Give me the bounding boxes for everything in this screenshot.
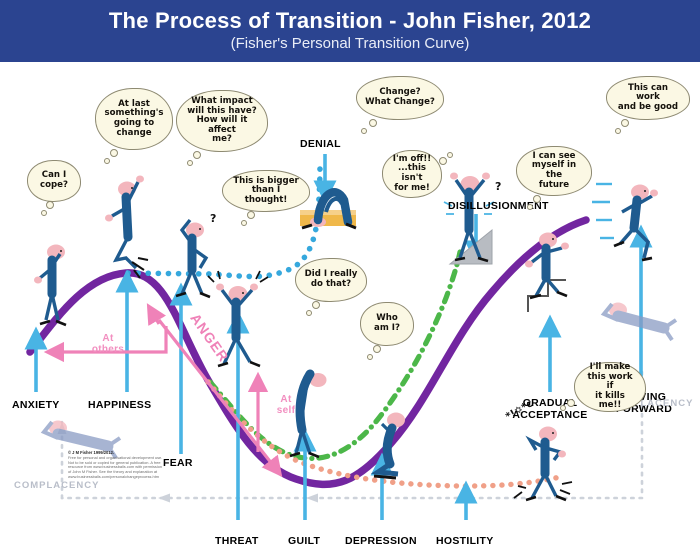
bubble-dot xyxy=(369,119,377,127)
transition-curve-diagram: The Process of Transition - John Fisher,… xyxy=(0,0,700,520)
bubble-dot xyxy=(439,157,447,165)
bubble-text: Who am I? xyxy=(374,314,400,333)
bubble-did-i-really-do-that: Did I really do that? xyxy=(295,258,367,302)
bubble-dot xyxy=(373,345,381,353)
bubble-text: I'll make this work if it kills me!! xyxy=(583,363,637,411)
question-mark-disillusionment: ? xyxy=(495,180,501,193)
anger-up-arrow xyxy=(152,312,159,324)
figure-moving-forward xyxy=(592,184,658,260)
bubble-dot xyxy=(306,310,312,316)
bubble-i-can-see-myself: I can see myself in the future xyxy=(516,146,592,196)
stage-label-depression: DEPRESSION xyxy=(345,536,417,548)
bubble-this-is-bigger: This is bigger than I thought! xyxy=(222,170,310,212)
bubble-dot xyxy=(247,211,255,219)
bubble-dot xyxy=(41,210,47,216)
bubble-im-off: I'm off!! ...this isn't for me! xyxy=(382,150,442,198)
stage-label-disillusionment: DISILLUSIONMENT xyxy=(448,201,549,213)
bubble-dot xyxy=(241,220,247,226)
question-mark-what-impact: ? xyxy=(210,212,216,225)
bubble-text: This is bigger than I thought! xyxy=(231,177,301,206)
bubble-dot xyxy=(533,195,541,203)
bubble-text: I'm off!! ...this isn't for me! xyxy=(391,155,433,193)
bubble-dot xyxy=(527,204,533,210)
bubble-text: At last something's going to change xyxy=(105,100,164,138)
bubble-dot xyxy=(361,128,367,134)
stage-label-denial: DENIAL xyxy=(300,139,341,151)
stage-label-guilt: GUILT xyxy=(288,536,320,548)
bubble-dot xyxy=(367,354,373,360)
figure-what-impact xyxy=(176,220,210,297)
stage-label-threat: THREAT xyxy=(215,536,259,548)
figure-happiness xyxy=(105,176,148,279)
stage-label-anxiety: ANXIETY xyxy=(12,400,60,412)
bubble-dot xyxy=(312,301,320,309)
bubble-dot xyxy=(560,405,566,411)
bubble-dot xyxy=(187,160,193,166)
bubble-can-i-cope: Can I cope? xyxy=(27,160,81,202)
page-subtitle: (Fisher's Personal Transition Curve) xyxy=(231,34,470,54)
stage-label-hostility: HOSTILITY xyxy=(436,536,494,548)
bubble-dot xyxy=(104,158,110,164)
copyright-line-6: www.businessballs.com/personalchangeproc… xyxy=(68,475,208,480)
page-title: The Process of Transition - John Fisher,… xyxy=(109,9,591,33)
bubble-text: This can work and be good xyxy=(615,84,681,113)
copyright-block: © J M Fisher 1999/2012. Free for persona… xyxy=(68,451,208,480)
bubble-ill-make-this-work: I'll make this work if it kills me!! xyxy=(574,362,646,412)
bubble-text: Change? What Change? xyxy=(365,88,435,107)
bubble-this-can-work: This can work and be good xyxy=(606,76,690,120)
title-banner: The Process of Transition - John Fisher,… xyxy=(0,0,700,62)
bubble-what-impact: What impact will this have? How will it … xyxy=(176,90,268,152)
bubble-dot xyxy=(615,128,621,134)
bubble-text: What impact will this have? How will it … xyxy=(185,97,259,145)
figure-hostility xyxy=(514,427,572,501)
bubble-dot xyxy=(567,399,575,407)
bubble-dot xyxy=(193,151,201,159)
bubble-text: I can see myself in the future xyxy=(525,152,583,190)
stage-label-happiness: HAPPINESS xyxy=(88,400,151,412)
bubble-dot xyxy=(46,201,54,209)
bubble-text: Did I really do that? xyxy=(305,270,358,289)
complacency-label-left: COMPLACENCY xyxy=(14,480,99,492)
figure-disillusionment xyxy=(444,173,494,265)
anger-at-self-label: At self xyxy=(268,394,304,416)
bubble-change-what-change: Change? What Change? xyxy=(356,76,444,120)
bubble-dot xyxy=(621,119,629,127)
bubble-dot xyxy=(447,152,453,158)
figure-gradual-acceptance xyxy=(525,233,569,313)
anger-at-others-label: At others xyxy=(90,333,126,355)
bubble-at-last: At last something's going to change xyxy=(95,88,173,150)
bubble-text: Can I cope? xyxy=(40,171,68,190)
bubble-who-am-i: Who am I? xyxy=(360,302,414,346)
bubble-dot xyxy=(110,149,118,157)
